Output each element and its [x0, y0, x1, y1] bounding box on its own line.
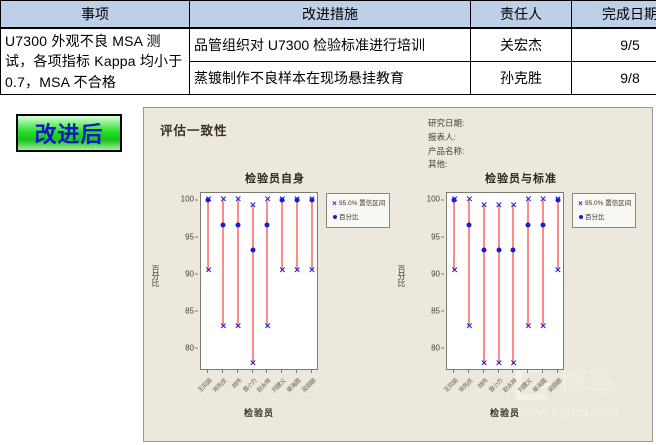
x-tick-mark: [512, 370, 513, 373]
confidence-interval-line: [222, 200, 224, 326]
x-tick-label: 柴海霞: [284, 376, 302, 394]
ci-bound-marker: ×: [308, 267, 315, 274]
legend-label-ci: 95.0% 置信区间: [585, 198, 631, 209]
y-tick-label: 95: [431, 232, 440, 241]
column-header-measure: 改进措施: [190, 1, 471, 29]
x-tick-label: 吴丽娜: [299, 376, 317, 394]
ci-bound-marker: ×: [264, 197, 271, 204]
percent-marker: [452, 198, 457, 203]
legend-label-percent: 百分比: [339, 212, 359, 223]
ci-bound-marker: ×: [510, 203, 517, 210]
legend-label-percent: 百分比: [585, 212, 605, 223]
y-tick-label: 80: [431, 343, 440, 352]
ci-bound-marker: ×: [495, 203, 502, 210]
x-tick-mark: [498, 370, 499, 373]
percent-marker: [280, 198, 285, 203]
ci-bound-marker: ×: [480, 361, 487, 368]
x-tick-mark: [222, 370, 223, 373]
confidence-interval-line: [281, 200, 283, 270]
y-tick-label: 90: [431, 269, 440, 278]
x-tick-mark: [311, 370, 312, 373]
ci-bound-marker: ×: [466, 323, 473, 330]
ci-bound-marker: ×: [539, 323, 546, 330]
confidence-interval-line: [237, 200, 239, 326]
chart-appraiser-vs-standard: 检验员与标准 百分比 80859095100 ×××××××××××××××× …: [402, 170, 640, 432]
ci-bound-marker: ×: [220, 197, 227, 204]
legend-item-ci: × 95.0% 置信区间: [576, 197, 631, 211]
x-tick-mark: [296, 370, 297, 373]
plot-area: ××××××××××××××××: [446, 192, 564, 370]
x-axis-label: 检验员: [446, 406, 564, 419]
after-improvement-label: 改进后: [34, 117, 103, 149]
cell-owner: 关宏杰: [471, 28, 572, 62]
ci-bound-marker: ×: [554, 267, 561, 274]
column-header-owner: 责任人: [471, 1, 572, 29]
ci-bound-marker: ×: [525, 323, 532, 330]
x-axis-ticks: 王凤娟宋先庆胡伟曾小力赵永林刘建义柴海霞吴丽娜: [200, 370, 318, 400]
x-marker-icon: ×: [576, 197, 585, 211]
after-improvement-badge: 改进后: [16, 114, 122, 152]
ci-bound-marker: ×: [205, 267, 212, 274]
confidence-interval-line: [542, 200, 544, 326]
percent-marker: [496, 247, 501, 252]
percent-marker: [206, 198, 211, 203]
chart-title: 检验员自身: [156, 170, 394, 186]
confidence-interval-line: [252, 206, 254, 364]
table-row: U7300 外观不良 MSA 测试，各项指标 Kappa 均小于 0.7，MSA…: [1, 28, 656, 62]
x-tick-label: 吴丽娜: [545, 376, 563, 394]
assessment-agreement-report: 评估一致性 研究日期: 报表人: 产品名称: 其他: 博革 www.biglss…: [143, 107, 653, 442]
ci-bound-marker: ×: [495, 361, 502, 368]
ci-bound-marker: ×: [264, 323, 271, 330]
x-axis-ticks: 王凤娟宋先庆胡伟曾小力赵永林刘建义柴海霞吴丽娜: [446, 370, 564, 400]
meta-reported-by: 报表人:: [428, 131, 464, 145]
legend-item-percent: 百分比: [576, 211, 631, 225]
percent-marker: [511, 247, 516, 252]
column-header-item: 事项: [1, 1, 190, 29]
percent-marker: [265, 223, 270, 228]
percent-marker: [235, 223, 240, 228]
confidence-interval-line: [512, 206, 514, 364]
confidence-interval-line: [311, 200, 313, 270]
x-tick-mark: [527, 370, 528, 373]
x-marker-icon: ×: [330, 197, 339, 211]
confidence-interval-line: [207, 200, 209, 270]
confidence-interval-line: [483, 206, 485, 364]
report-title: 评估一致性: [160, 120, 228, 139]
cell-owner: 孙克胜: [471, 62, 572, 95]
ci-bound-marker: ×: [220, 323, 227, 330]
legend-item-ci: × 95.0% 置信区间: [330, 197, 385, 211]
x-tick-label: 柴海霞: [530, 376, 548, 394]
ci-bound-marker: ×: [451, 267, 458, 274]
legend-item-percent: 百分比: [330, 211, 385, 225]
x-tick-label: 刘建义: [269, 376, 287, 394]
confidence-interval-line: [527, 200, 529, 326]
ci-bound-marker: ×: [480, 203, 487, 210]
x-tick-mark: [453, 370, 454, 373]
x-tick-mark: [252, 370, 253, 373]
y-tick-label: 100: [427, 195, 440, 204]
x-tick-mark: [468, 370, 469, 373]
confidence-interval-line: [453, 200, 455, 270]
y-axis-label: 百分比: [396, 265, 407, 286]
column-header-date: 完成日期: [572, 1, 656, 29]
ci-bound-marker: ×: [293, 267, 300, 274]
chart-legend: × 95.0% 置信区间 百分比: [572, 193, 636, 228]
cell-date: 9/8: [572, 62, 656, 95]
x-tick-label: 刘建义: [515, 376, 533, 394]
improvement-action-table: 事项 改进措施 责任人 完成日期 U7300 外观不良 MSA 测试，各项指标 …: [0, 0, 656, 95]
ci-bound-marker: ×: [249, 361, 256, 368]
y-tick-label: 100: [181, 195, 194, 204]
y-axis-ticks: 80859095100: [168, 192, 198, 370]
chart-within-appraiser: 检验员自身 百分比 80859095100 ×××××××××××××××× 王…: [156, 170, 394, 432]
x-tick-mark: [266, 370, 267, 373]
ci-bound-marker: ×: [539, 197, 546, 204]
chart-legend: × 95.0% 置信区间 百分比: [326, 193, 390, 228]
y-tick-label: 85: [185, 306, 194, 315]
meta-study-date: 研究日期:: [428, 117, 464, 131]
percent-marker: [526, 223, 531, 228]
cell-measure: 蒸镀制作不良样本在现场悬挂教育: [190, 62, 471, 95]
percent-marker: [467, 223, 472, 228]
percent-marker: [540, 223, 545, 228]
y-tick-label: 95: [185, 232, 194, 241]
ci-bound-marker: ×: [525, 197, 532, 204]
chart-title: 检验员与标准: [402, 170, 640, 186]
ci-bound-marker: ×: [510, 361, 517, 368]
cell-item-description: U7300 外观不良 MSA 测试，各项指标 Kappa 均小于 0.7，MSA…: [1, 28, 190, 94]
meta-product-name: 产品名称:: [428, 145, 464, 159]
percent-marker: [309, 198, 314, 203]
confidence-interval-line: [557, 200, 559, 270]
y-tick-label: 90: [185, 269, 194, 278]
percent-marker: [294, 198, 299, 203]
confidence-interval-line: [468, 200, 470, 326]
percent-marker: [221, 223, 226, 228]
x-tick-mark: [237, 370, 238, 373]
x-tick-mark: [483, 370, 484, 373]
y-tick-label: 85: [431, 306, 440, 315]
y-tick-label: 80: [185, 343, 194, 352]
ci-bound-marker: ×: [249, 203, 256, 210]
percent-marker: [481, 247, 486, 252]
cell-measure: 品管组织对 U7300 检验标准进行培训: [190, 28, 471, 62]
x-tick-mark: [542, 370, 543, 373]
cell-date: 9/5: [572, 28, 656, 62]
x-axis-label: 检验员: [200, 406, 318, 419]
y-axis-ticks: 80859095100: [414, 192, 444, 370]
report-meta-block: 研究日期: 报表人: 产品名称: 其他:: [428, 117, 464, 172]
x-tick-label: 宋先庆: [456, 376, 474, 394]
plot-area: ××××××××××××××××: [200, 192, 318, 370]
x-tick-label: 宋先庆: [210, 376, 228, 394]
ci-bound-marker: ×: [234, 323, 241, 330]
confidence-interval-line: [266, 200, 268, 326]
ci-bound-marker: ×: [466, 197, 473, 204]
dot-marker-icon: [330, 211, 339, 225]
percent-marker: [250, 247, 255, 252]
table-header-row: 事项 改进措施 责任人 完成日期: [1, 1, 656, 29]
dot-marker-icon: [576, 211, 585, 225]
confidence-interval-line: [296, 200, 298, 270]
legend-label-ci: 95.0% 置信区间: [339, 198, 385, 209]
ci-bound-marker: ×: [234, 197, 241, 204]
x-tick-mark: [281, 370, 282, 373]
ci-bound-marker: ×: [279, 267, 286, 274]
y-axis-label: 百分比: [150, 265, 161, 286]
percent-marker: [555, 198, 560, 203]
confidence-interval-line: [498, 206, 500, 364]
x-tick-mark: [557, 370, 558, 373]
x-tick-mark: [207, 370, 208, 373]
